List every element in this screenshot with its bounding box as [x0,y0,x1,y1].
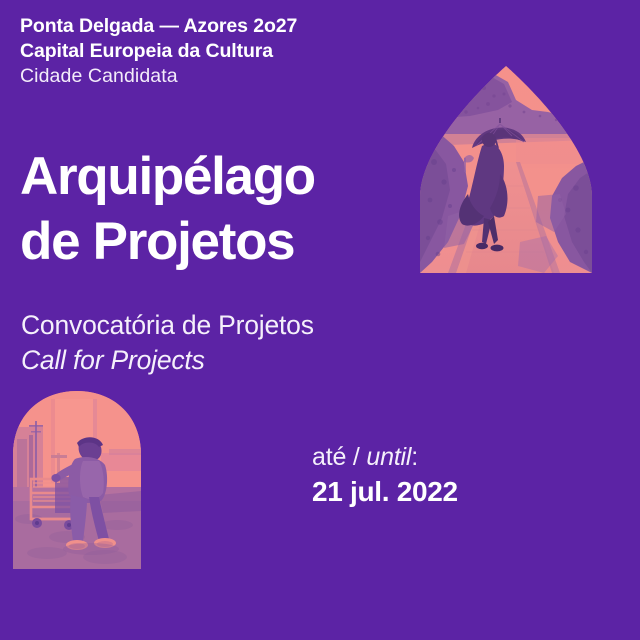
title-line-1: Arquipélago [20,144,440,209]
arch-photo [13,391,141,569]
deadline-label-en: until [366,443,411,471]
page-title: Arquipélago de Projetos [20,144,440,274]
poster-canvas: Ponta Delgada — Azores 2o27 Capital Euro… [0,0,640,640]
header-line-capital: Capital Europeia da Cultura [20,39,420,64]
deadline-label: até / until: [312,440,612,474]
header-line-city-year: Ponta Delgada — Azores 2o27 [20,14,420,39]
deadline-block: até / until: 21 jul. 2022 [312,440,612,510]
footer: PONTA DELGADA CÂMARA MUNICIPAL [0,580,640,640]
deadline-colon: : [411,443,418,471]
deadline-slash: / [353,443,360,471]
subtitle-pt: Convocatória de Projetos [21,308,441,343]
deadline-separator [346,443,353,471]
ogive-photo [420,66,592,273]
title-line-2: de Projetos [20,209,440,274]
subtitle-en: Call for Projects [21,343,441,378]
event-header: Ponta Delgada — Azores 2o27 Capital Euro… [20,14,420,89]
header-line-candidate: Cidade Candidata [20,64,420,89]
deadline-date: 21 jul. 2022 [312,474,612,510]
subtitle-block: Convocatória de Projetos Call for Projec… [21,308,441,378]
deadline-label-pt: até [312,443,346,471]
